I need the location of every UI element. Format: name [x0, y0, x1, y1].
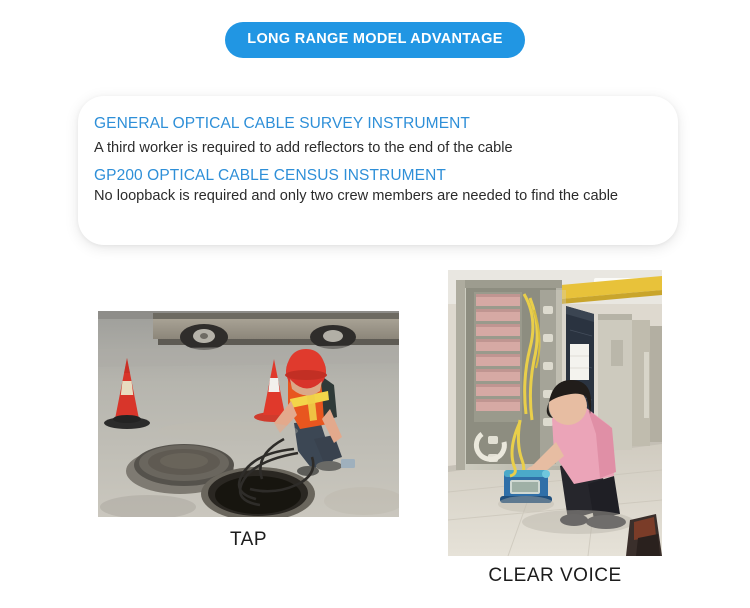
header-row: LONG RANGE MODEL ADVANTAGE: [0, 22, 750, 58]
model-advantage-info-card: GENERAL OPTICAL CABLE SURVEY INSTRUMENT …: [78, 96, 678, 245]
caption-clear-voice: CLEAR VOICE: [448, 565, 662, 587]
caption-tap: TAP: [98, 529, 399, 551]
long-range-model-advantage-badge: LONG RANGE MODEL ADVANTAGE: [225, 22, 524, 58]
photo-clear-voice: [448, 270, 662, 556]
gp200-instrument-heading: GP200 OPTICAL CABLE CENSUS INSTRUMENT: [94, 167, 652, 186]
gp200-instrument-description: No loopback is required and only two cre…: [94, 187, 652, 206]
general-instrument-heading: GENERAL OPTICAL CABLE SURVEY INSTRUMENT: [94, 115, 652, 134]
photo-icon: [448, 270, 662, 556]
photo-icon: [98, 311, 399, 517]
photo-tap: [98, 311, 399, 517]
general-instrument-description: A third worker is required to add reflec…: [94, 139, 652, 158]
